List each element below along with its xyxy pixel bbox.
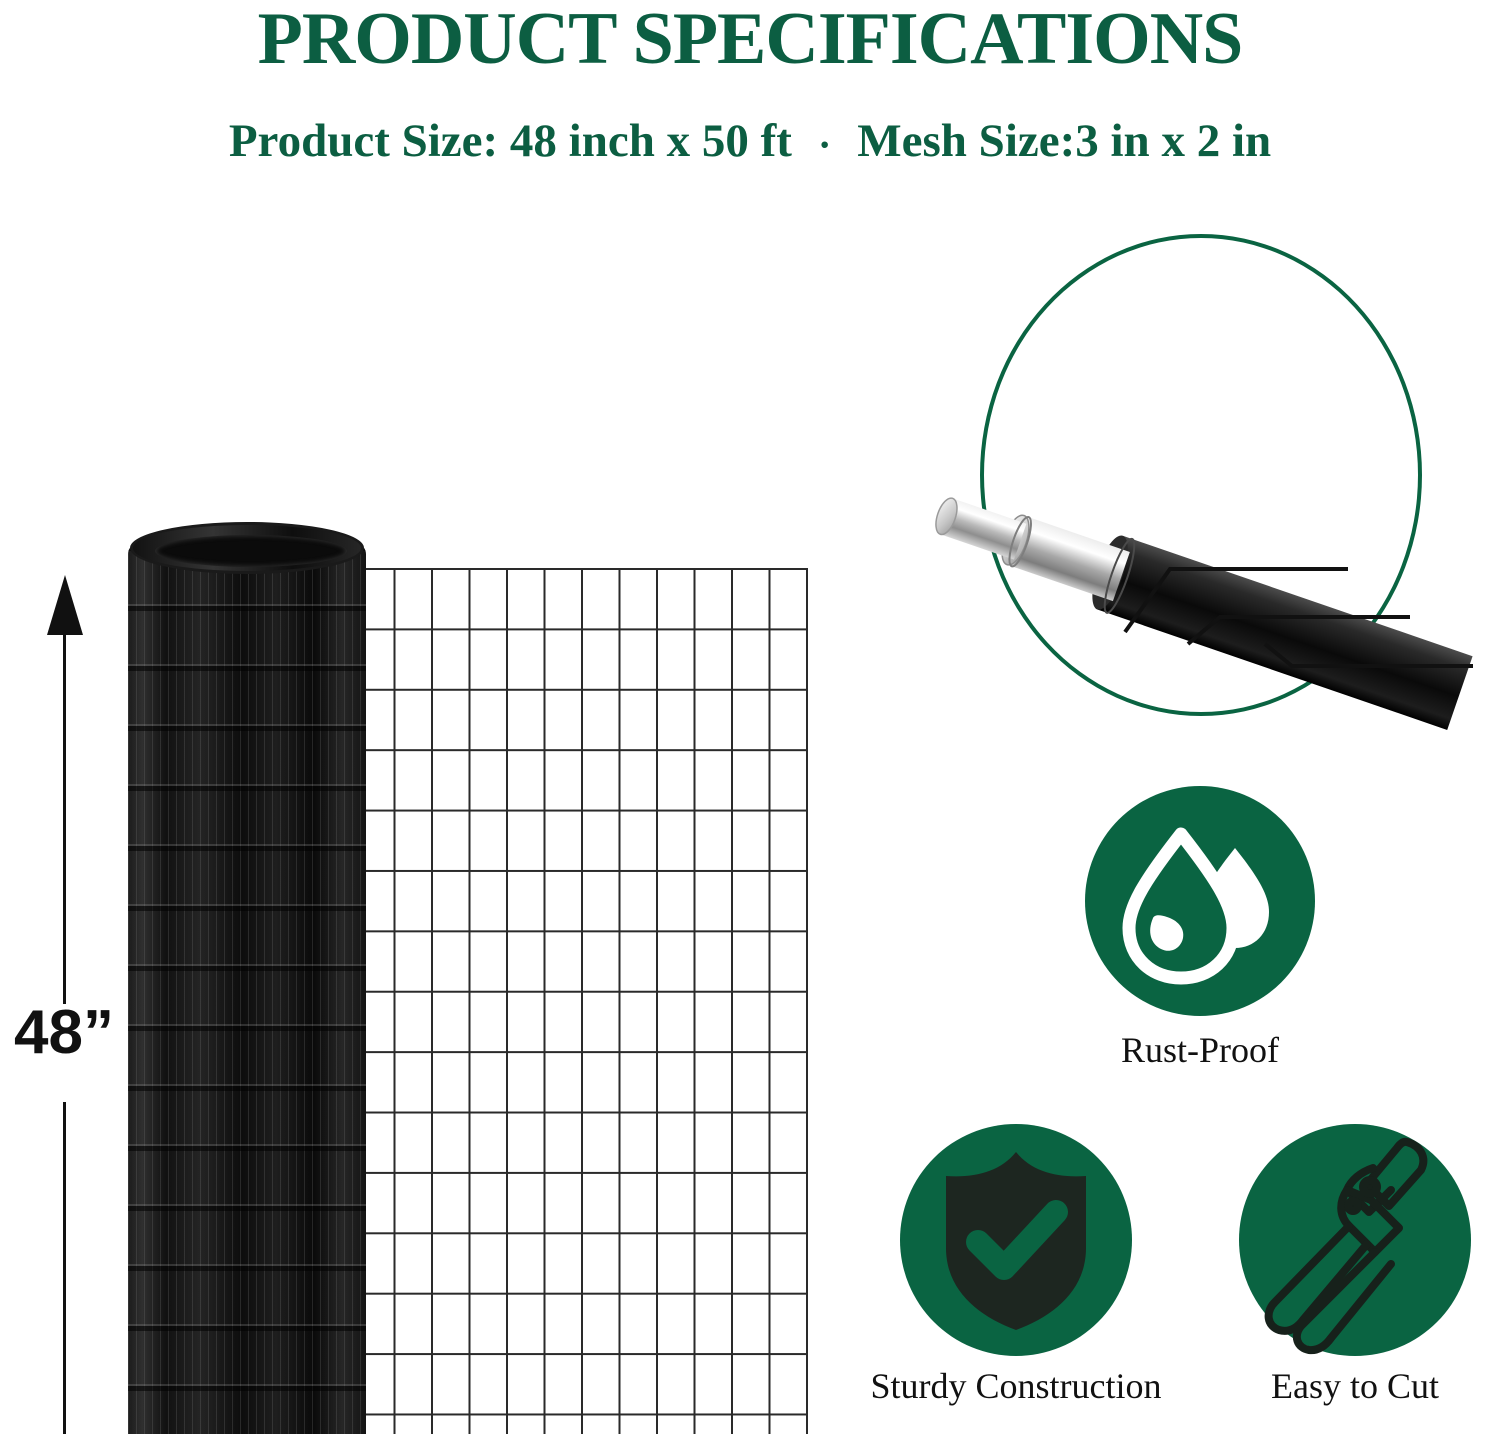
product-illustration: 48” 50’: [0, 230, 880, 1434]
product-size-text: Product Size: 48 inch x 50 ft: [229, 115, 792, 167]
roll-top-inner-ellipse: [155, 535, 347, 567]
wire-mesh-roll: [128, 522, 366, 1434]
feature-label-easy-to-cut: Easy to Cut: [1210, 1368, 1500, 1404]
wire-construction-detail: Steel Galvanization Black Vinyl Coated: [980, 234, 1422, 716]
shield-check-icon: [900, 1124, 1132, 1356]
easy-to-cut-badge: [1239, 1124, 1471, 1356]
feature-label-rust-proof: Rust-Proof: [1030, 1032, 1370, 1068]
height-dimension-label: 48”: [0, 1000, 128, 1065]
water-drop-icon: [1085, 786, 1315, 1016]
dimension-line-vertical-upper: [63, 632, 66, 1004]
roll-top-ellipse: [130, 522, 364, 574]
sturdy-construction-badge: [900, 1124, 1132, 1356]
roll-horizontal-wires: [128, 544, 366, 1434]
pliers-icon: [1239, 1124, 1471, 1356]
dimension-line-vertical-lower: [63, 1102, 66, 1434]
feature-label-sturdy-construction: Sturdy Construction: [830, 1368, 1202, 1404]
feature-easy-to-cut: Easy to Cut: [1210, 1124, 1500, 1404]
specs-subtitle: Product Size: 48 inch x 50 ft·Mesh Size:…: [0, 118, 1500, 165]
mesh-size-text: Mesh Size:3 in x 2 in: [857, 115, 1271, 167]
spec-separator: ·: [792, 125, 857, 165]
feature-rust-proof: Rust-Proof: [1030, 786, 1370, 1068]
dimension-arrow-up-icon: [47, 575, 83, 635]
layered-wire-diagram-icon: [920, 214, 1480, 754]
product-specifications-infographic: PRODUCT SPECIFICATIONS Product Size: 48 …: [0, 0, 1500, 1434]
feature-sturdy-construction: Sturdy Construction: [830, 1124, 1202, 1404]
wire-mesh-sheet: [356, 568, 808, 1434]
page-title: PRODUCT SPECIFICATIONS: [0, 2, 1500, 76]
rust-proof-badge: [1085, 786, 1315, 1016]
